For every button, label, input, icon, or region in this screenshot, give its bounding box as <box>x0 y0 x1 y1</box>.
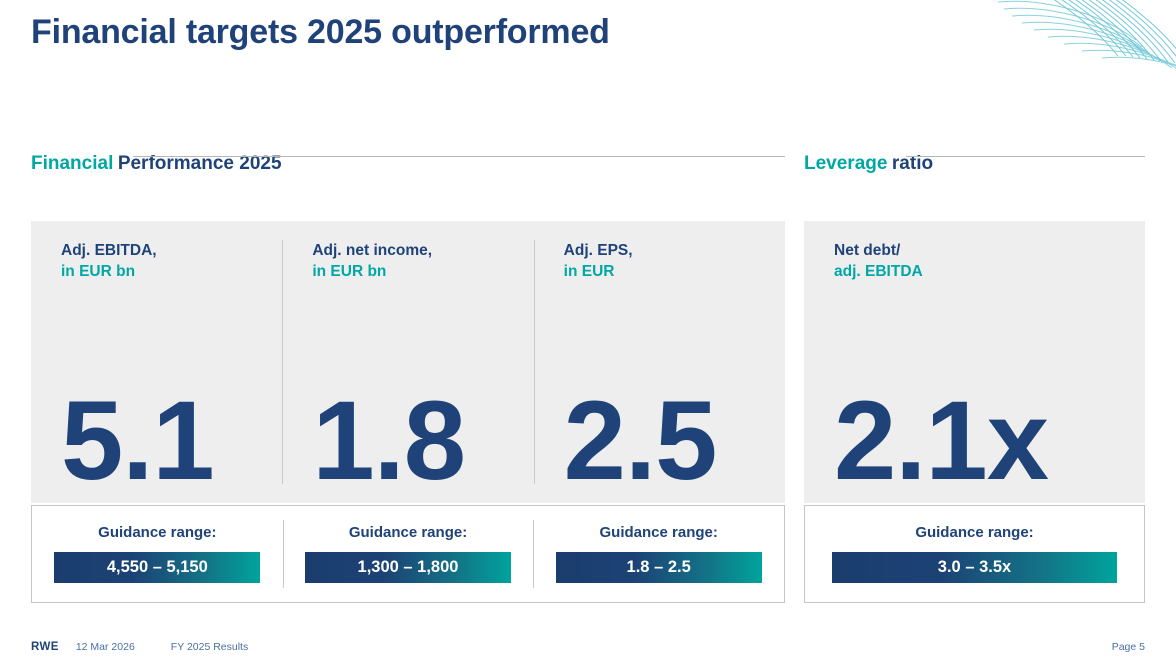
metric-label-unit: adj. EBITDA <box>834 261 1145 282</box>
metric-value: 1.8 <box>312 385 465 497</box>
guidance-range-bar: 1.8 – 2.5 <box>556 552 762 583</box>
metric-label: Net debt/ adj. EBITDA <box>834 240 1145 282</box>
section-heading-line-1: Financial <box>31 153 113 174</box>
financial-performance-group: Adj. EBITDA, in EUR bn 5.1 Adj. net inco… <box>31 221 785 603</box>
guidance-card-adj-eps: Guidance range: 1.8 – 2.5 <box>533 506 784 602</box>
guidance-title: Guidance range: <box>32 523 283 543</box>
brand-logo-rwe: RWE <box>31 641 59 653</box>
guidance-range-bar: 1,300 – 1,800 <box>305 552 511 583</box>
guidance-range-bar: 3.0 – 3.5x <box>832 552 1117 583</box>
page-title: Financial targets 2025 outperformed <box>31 13 610 52</box>
footer: RWE 12 Mar 2026 FY 2025 Results <box>31 641 248 653</box>
metric-label: Adj. EPS, in EUR <box>564 240 785 282</box>
guidance-card-adj-ebitda: Guidance range: 4,550 – 5,150 <box>32 506 283 602</box>
metric-label-title: Adj. EBITDA, <box>61 240 282 261</box>
guidance-title: Guidance range: <box>533 523 784 543</box>
fan-lines-graphic <box>986 0 1176 86</box>
metric-label-unit: in EUR bn <box>61 261 282 282</box>
metric-label: Adj. net income, in EUR bn <box>312 240 533 282</box>
guidance-panel-financial: Guidance range: 4,550 – 5,150 Guidance r… <box>31 505 785 603</box>
metric-card-adj-eps: Adj. EPS, in EUR 2.5 <box>534 221 785 503</box>
section-heading-line-1: Leverage <box>804 153 887 174</box>
section-rule-financial <box>133 156 785 157</box>
guidance-range-bar: 4,550 – 5,150 <box>54 552 260 583</box>
guidance-panel-leverage: Guidance range: 3.0 – 3.5x <box>804 505 1145 603</box>
guidance-title: Guidance range: <box>805 523 1144 543</box>
metric-card-net-debt-adj-ebitda: Net debt/ adj. EBITDA 2.1x <box>804 221 1145 503</box>
metric-value: 2.5 <box>564 385 717 497</box>
page-number: Page 5 <box>1112 641 1145 653</box>
leverage-ratio-group: Net debt/ adj. EBITDA 2.1x Guidance rang… <box>804 221 1145 603</box>
guidance-card-adj-net-income: Guidance range: 1,300 – 1,800 <box>283 506 534 602</box>
metric-label: Adj. EBITDA, in EUR bn <box>61 240 282 282</box>
metric-label-title: Adj. EPS, <box>564 240 785 261</box>
metric-label-title: Net debt/ <box>834 240 1145 261</box>
metric-panel-leverage: Net debt/ adj. EBITDA 2.1x <box>804 221 1145 503</box>
guidance-title: Guidance range: <box>283 523 534 543</box>
guidance-card-net-debt-adj-ebitda: Guidance range: 3.0 – 3.5x <box>805 506 1144 602</box>
metric-value: 5.1 <box>61 385 214 497</box>
metric-label-title: Adj. net income, <box>312 240 533 261</box>
footer-date: 12 Mar 2026 <box>76 641 135 653</box>
metric-label-unit: in EUR <box>564 261 785 282</box>
metric-card-adj-net-income: Adj. net income, in EUR bn 1.8 <box>282 221 533 503</box>
metric-value: 2.1x <box>834 385 1048 497</box>
metric-label-unit: in EUR bn <box>312 261 533 282</box>
metric-panel-financial: Adj. EBITDA, in EUR bn 5.1 Adj. net inco… <box>31 221 785 503</box>
section-rule-leverage <box>906 156 1145 157</box>
footer-document-title: FY 2025 Results <box>171 641 248 653</box>
metric-card-adj-ebitda: Adj. EBITDA, in EUR bn 5.1 <box>31 221 282 503</box>
